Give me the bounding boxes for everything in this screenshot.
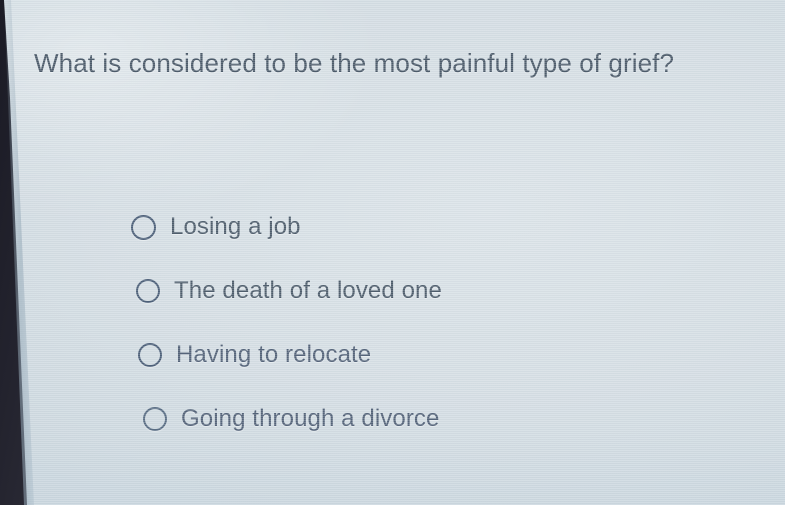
radio-button-icon[interactable] bbox=[136, 279, 160, 303]
answer-options-list: Losing a job The death of a loved one Ha… bbox=[0, 205, 785, 461]
answer-option-label: Going through a divorce bbox=[181, 405, 439, 433]
answer-option-label: Having to relocate bbox=[176, 341, 371, 369]
answer-option-label: The death of a loved one bbox=[174, 277, 442, 305]
answer-option-2[interactable]: The death of a loved one bbox=[0, 269, 785, 313]
radio-button-icon[interactable] bbox=[143, 407, 167, 431]
answer-option-1[interactable]: Losing a job bbox=[0, 205, 785, 249]
radio-button-icon[interactable] bbox=[138, 343, 162, 367]
answer-option-4[interactable]: Going through a divorce bbox=[0, 397, 785, 441]
answer-option-label: Losing a job bbox=[170, 213, 301, 241]
quiz-screen-photo: What is considered to be the most painfu… bbox=[0, 0, 785, 505]
radio-button-icon[interactable] bbox=[131, 215, 156, 240]
question-text: What is considered to be the most painfu… bbox=[34, 46, 734, 80]
answer-option-3[interactable]: Having to relocate bbox=[0, 333, 785, 377]
